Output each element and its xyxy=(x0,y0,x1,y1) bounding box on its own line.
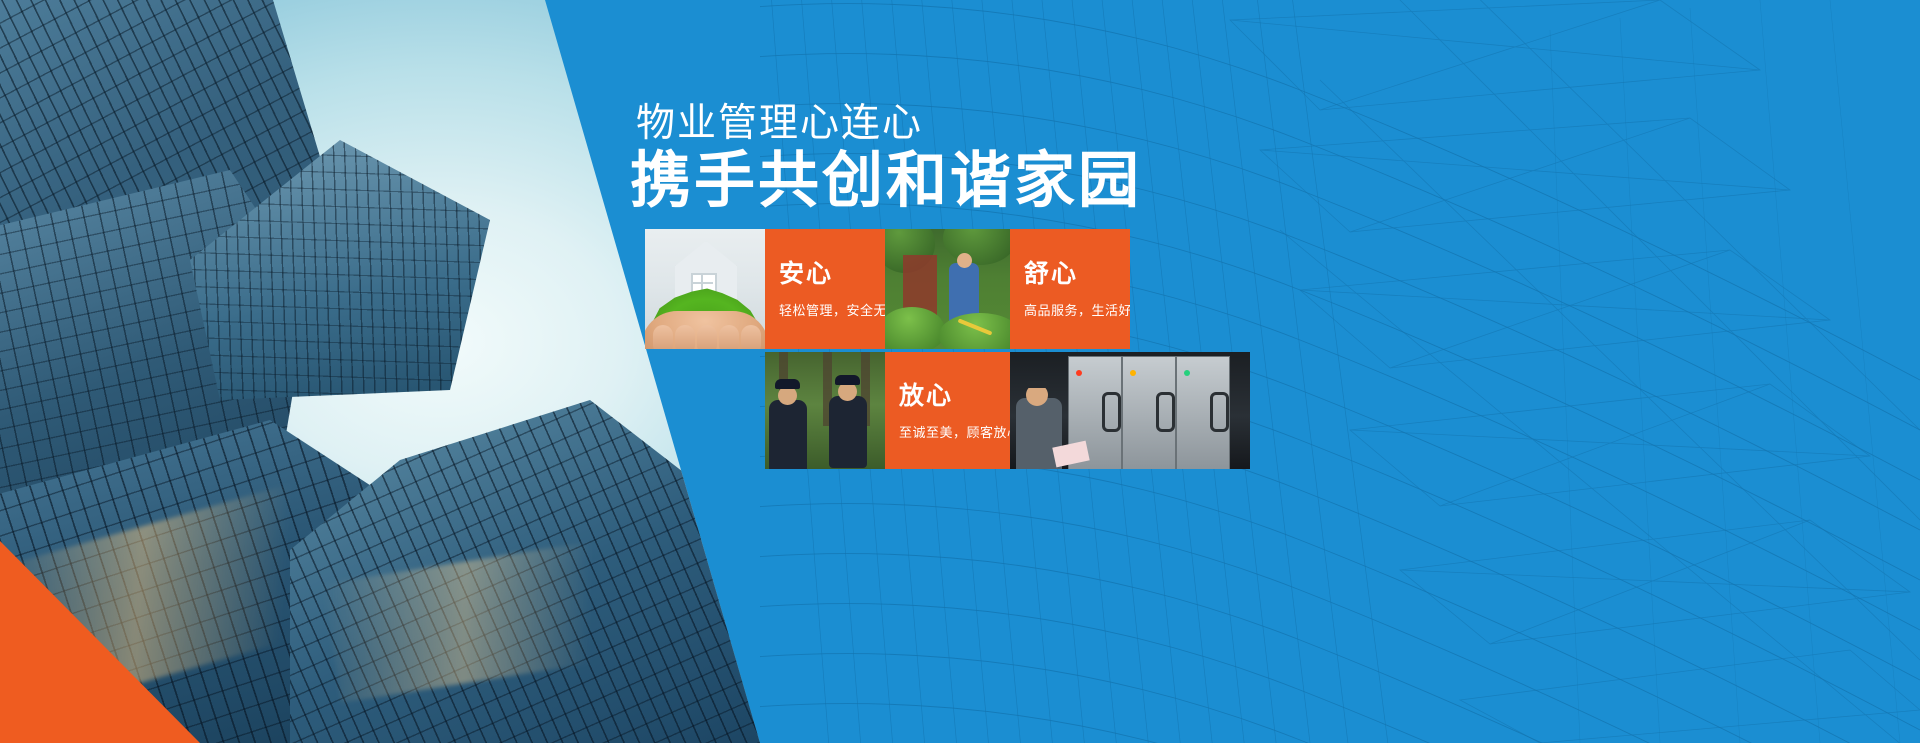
card-image-hands-grass-house xyxy=(645,229,765,349)
property-management-banner: 物业管理心连心 携手共创和谐家园 安心 轻松管理，安全无忧 xyxy=(0,0,1920,743)
feature-card-grid: 安心 轻松管理，安全无忧 舒心 高品服务，生活好管家 xyxy=(645,229,1265,469)
card-image-gardener xyxy=(885,229,1010,349)
feature-card-anxin[interactable]: 安心 轻松管理，安全无忧 xyxy=(765,229,885,349)
feature-card-shuxin-title: 舒心 xyxy=(1024,262,1078,287)
banner-title: 携手共创和谐家园 xyxy=(630,150,1190,211)
banner-subtitle: 物业管理心连心 xyxy=(636,104,1190,143)
feature-card-fangxin[interactable]: 放心 至诚至美，顾客放心 xyxy=(885,352,1010,469)
feature-card-anxin-subtitle: 轻松管理，安全无忧 xyxy=(779,304,885,317)
feature-card-shuxin-subtitle: 高品服务，生活好管家 xyxy=(1024,304,1130,317)
feature-card-anxin-title: 安心 xyxy=(779,262,833,287)
feature-card-fangxin-title: 放心 xyxy=(899,384,953,409)
headline-block: 物业管理心连心 携手共创和谐家园 xyxy=(630,104,1190,211)
feature-card-shuxin[interactable]: 舒心 高品服务，生活好管家 xyxy=(1010,229,1130,349)
card-image-engineer-control-panel xyxy=(1010,352,1250,469)
card-image-security-guards xyxy=(765,352,885,469)
feature-card-fangxin-subtitle: 至诚至美，顾客放心 xyxy=(899,426,1010,439)
